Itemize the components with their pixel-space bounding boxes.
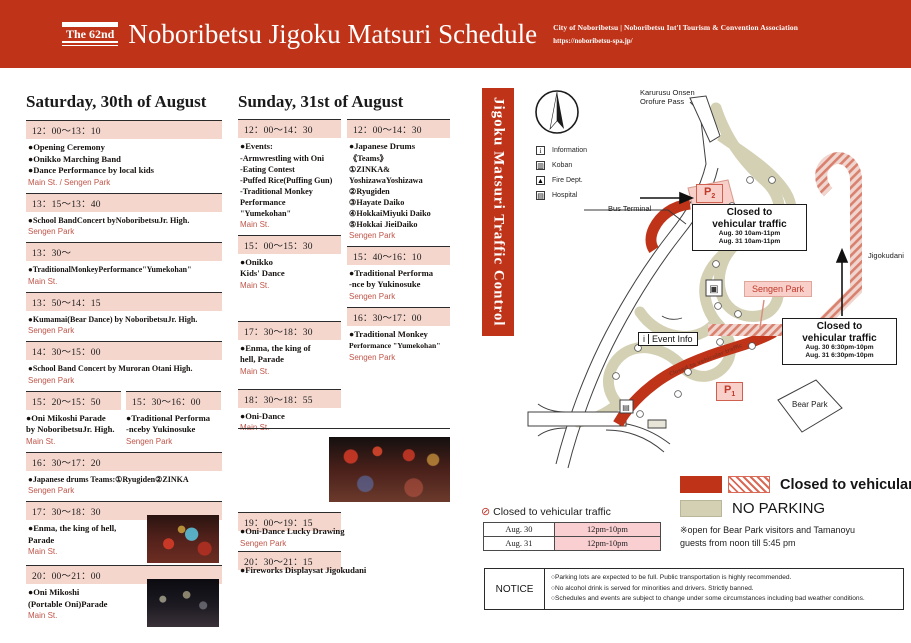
event-line: hell, Parade: [240, 354, 339, 366]
venue-label: Main St.: [28, 611, 142, 620]
event-line: ●Enma, the king of: [240, 343, 339, 355]
schedule-block: 18：30〜18：55 ●Oni-Dance Main St.: [238, 389, 341, 433]
venue-label: Main St.: [240, 367, 339, 376]
venue-label: Main St. / Sengen Park: [28, 178, 220, 187]
time-label: 15：00〜15：30: [238, 235, 341, 254]
schedule-block-body: ●Oni-Dance Lucky Drawing Sengen Park: [238, 526, 368, 548]
event-line: ①ZINKA&: [349, 164, 448, 175]
swatch-closed-hatched: [728, 476, 770, 493]
venue-label: Sengen Park: [238, 539, 368, 548]
event-line: -Armwrestling with Oni: [240, 153, 339, 164]
event-info-label: Event Info: [652, 334, 693, 344]
time-label: 12：00〜14：30: [347, 119, 450, 138]
table-row: Aug. 30 12pm-10pm: [484, 523, 661, 537]
time-label: 16：30〜17：20: [26, 452, 222, 471]
information-label: Information: [552, 147, 587, 154]
schedule-block: 13：50〜14：15 ●Kumamai(Bear Dance) by Nobo…: [26, 292, 222, 336]
information-icon: i: [536, 146, 545, 155]
notice-line: ○No alcohol drink is served for minoriti…: [551, 584, 865, 595]
saturday-title: Saturday, 30th of August: [26, 92, 222, 112]
time-label: 12：00〜14：30: [238, 119, 341, 138]
event-line: Parade: [28, 535, 142, 547]
event-photo-mikoshi: [147, 579, 219, 627]
closed-date: Aug. 31: [484, 537, 555, 551]
time-label: 16：30〜17：00: [347, 307, 450, 326]
time-label: 13：50〜14：15: [26, 292, 222, 311]
notice-line: ○Schedules and events are subject to cha…: [551, 594, 865, 605]
event-line: ●Oni-Dance Lucky Drawing: [238, 526, 368, 538]
schedule-block: 16：30〜17：20 ●Japanese drums Teams:①Ryugi…: [26, 452, 222, 496]
event-line: 《Teams》: [349, 153, 448, 164]
schedule-block: 12：00〜14：30 ●Japanese Drums 《Teams》 ①ZIN…: [347, 119, 450, 240]
koban-label: Koban: [552, 162, 572, 169]
closed-schedule-table: Aug. 30 12pm-10pm Aug. 31 12pm-10pm: [483, 522, 661, 551]
sunday-right-subcolumn: 12：00〜14：30 ●Japanese Drums 《Teams》 ①ZIN…: [347, 119, 450, 438]
event-line: ●Oni Mikoshi: [28, 587, 142, 599]
notice-list: ○Parking lots are expected to be full. P…: [545, 569, 871, 609]
venue-label: Main St.: [28, 277, 220, 286]
time-label: 14：30〜15：00: [26, 341, 222, 360]
label-sengen-park: Sengen Park: [744, 281, 812, 297]
event-line: ●Dance Performance by local kids: [28, 165, 220, 177]
parking-p2-marker[interactable]: P2: [696, 184, 723, 203]
event-line: (Portable Oni)Parade: [28, 599, 142, 611]
time-label: 18：30〜18：55: [238, 389, 341, 408]
event-line: ③Hayate Daiko: [349, 197, 448, 208]
swatch-closed-solid: [680, 476, 722, 493]
time-label: 15：30〜16：00: [126, 391, 221, 410]
time-label: 15：40〜16：10: [347, 246, 450, 265]
label-bear-park: Bear Park: [792, 400, 828, 409]
notice-line: ○Parking lots are expected to be full. P…: [551, 573, 865, 584]
schedule-block: 14：30〜15：00 ●School Band Concert by Muro…: [26, 341, 222, 385]
event-line: ●Kumamai(Bear Dance) by NoboribetsuJr. H…: [28, 314, 220, 326]
venue-label: Sengen Park: [126, 437, 221, 446]
venue-label: Sengen Park: [349, 353, 448, 362]
callout-row1: Aug. 30 10am-11pm: [698, 230, 801, 238]
callout-closed-10am: Closed to vehicular traffic Aug. 30 10am…: [692, 204, 807, 251]
legend-row-closed: Closed to vehicular traffic: [680, 476, 911, 493]
closed-date: Aug. 30: [484, 523, 555, 537]
swatch-no-parking: [680, 500, 722, 517]
schedule-block: 15：00〜15：30 ●Onikko Kids' Dance Main St.: [238, 235, 341, 290]
page-title: Noboribetsu Jigoku Matsuri Schedule: [128, 19, 537, 50]
label-karurusu-onsen: Karurusu Onsen: [640, 88, 695, 97]
label-jigokudani: Jigokudani: [868, 251, 904, 260]
event-line: ●Onikko Marching Band: [28, 154, 220, 166]
time-label: 12：00〜13：10: [26, 120, 222, 139]
parking-p1-marker[interactable]: P1: [716, 382, 743, 401]
schedule-block: 17：30〜18：30 ●Enma, the king of hell, Par…: [26, 501, 222, 556]
page-header: The 62nd Noboribetsu Jigoku Matsuri Sche…: [0, 0, 911, 68]
hospital-icon: ▤: [536, 191, 545, 200]
label-orofure-pass: Orofure Pass: [640, 97, 684, 106]
table-row: Aug. 31 12pm-10pm: [484, 537, 661, 551]
event-line: ●Fireworks Displaysat Jigokudani: [238, 565, 378, 577]
sunday-column: Sunday, 31st of August 12：00〜14：30 ●Even…: [238, 92, 450, 438]
callout-row2: Aug. 31 6:30pm-10pm: [788, 352, 891, 360]
venue-label: Sengen Park: [349, 231, 448, 240]
callout-line1: Closed to: [698, 207, 801, 219]
organizer-url[interactable]: https://noboribetsu-spa.jp/: [553, 37, 798, 45]
event-line: Kids' Dance: [240, 268, 339, 280]
event-line: ●School BandConcert byNoboribetsuJr. Hig…: [28, 215, 220, 227]
time-label: 17：30〜18：30: [238, 321, 341, 340]
closed-table-heading: ⊘ Closed to vehicular traffic: [481, 505, 611, 518]
info-icon: i: [643, 334, 649, 344]
schedule-block: 12：00〜14：30 ●Events: -Armwrestling with …: [238, 119, 341, 229]
event-line: ●Traditional Performa: [349, 268, 448, 280]
schedule-block: 16：30〜17：00 ●Traditional Monkey Performa…: [347, 307, 450, 362]
callout-row1: Aug. 30 6:30pm-10pm: [788, 344, 891, 352]
venue-label: Main St.: [240, 281, 339, 290]
event-line: ⑤Hokkai JieiDaiko: [349, 219, 448, 230]
label-bus-terminal: Bus Terminal: [608, 204, 651, 213]
edition-badge: The 62nd: [62, 25, 118, 43]
sunday-title: Sunday, 31st of August: [238, 92, 450, 112]
closed-time: 12pm-10pm: [554, 523, 660, 537]
event-photo-street: [329, 437, 450, 502]
event-line: YoshizawaYoshizawa: [349, 175, 448, 186]
event-line: Performance "Yumekohan": [349, 340, 448, 352]
venue-label: Main St.: [240, 220, 339, 229]
event-line: ●Events:: [240, 141, 339, 153]
event-line: ●Onikko: [240, 257, 339, 269]
venue-label: Sengen Park: [349, 292, 448, 301]
event-line: ●TraditionalMonkeyPerformance"Yumekohan": [28, 264, 220, 276]
callout-line2: vehicular traffic: [698, 219, 801, 231]
map-legend: Closed to vehicular traffic NO PARKING ※…: [680, 476, 911, 550]
svg-text:▣: ▣: [709, 284, 718, 295]
event-line: ②Ryugiden: [349, 186, 448, 197]
traffic-control-title: Jigoku Matsuri Traffic Control: [482, 88, 514, 336]
legend-no-parking-label: NO PARKING: [732, 500, 825, 517]
time-label: 15：20〜15：50: [26, 391, 121, 410]
time-label: 13：15〜13：40: [26, 193, 222, 212]
event-line: ④HokkaiMiyuki Daiko: [349, 208, 448, 219]
section-divider: [238, 428, 450, 429]
legend-note: ※open for Bear Park visitors and Tamanoy…: [680, 524, 911, 550]
legend-note-line1: ※open for Bear Park visitors and Tamanoy…: [680, 524, 911, 537]
event-line: -Eating Contest: [240, 164, 339, 175]
callout-row2: Aug. 31 10am-11pm: [698, 238, 801, 246]
event-line: -nceby Yukinosuke: [126, 424, 221, 436]
notice-box: NOTICE ○Parking lots are expected to be …: [484, 568, 904, 610]
event-line: -Traditional Monkey: [240, 186, 339, 197]
compass-icon: [534, 89, 580, 135]
event-line: ●Traditional Performa: [126, 413, 221, 425]
schedule-block-split: 15：20〜15：50 15：30〜16：00 ●Oni Mikoshi Par…: [26, 391, 222, 446]
venue-label: Main St.: [28, 547, 142, 556]
event-line: Performance: [240, 197, 339, 208]
schedule-block: 13：15〜13：40 ●School BandConcert byNobori…: [26, 193, 222, 237]
venue-label: Sengen Park: [28, 326, 220, 335]
saturday-column: Saturday, 30th of August 12：00〜13：10 ●Op…: [26, 92, 222, 626]
legend-row-no-parking: NO PARKING: [680, 500, 911, 517]
event-line: ●Japanese Drums: [349, 141, 448, 153]
p2-index: 2: [711, 193, 715, 200]
event-line: ●Enma, the king of hell,: [28, 523, 142, 535]
schedule-block: 15：40〜16：10 ●Traditional Performa -nce b…: [347, 246, 450, 301]
event-line: ●Traditional Monkey: [349, 329, 448, 341]
organizer-names: City of Noboribetsu | Noboribetsu Int'l …: [553, 23, 798, 32]
event-line: -Puffed Rice(Puffing Gun): [240, 175, 339, 186]
event-line: ●School Band Concert by Muroran Otani Hi…: [28, 363, 220, 375]
hospital-label: Hospital: [552, 192, 577, 199]
event-line: ●Opening Ceremony: [28, 142, 220, 154]
legend-note-line2: guests from noon till 5:45 pm: [680, 537, 911, 550]
event-line: by NoboribetsuJr. High.: [26, 424, 121, 436]
event-line: ●Oni Mikoshi Parade: [26, 413, 121, 425]
notice-label: NOTICE: [485, 569, 545, 609]
prohibition-icon: ⊘: [481, 506, 490, 518]
svg-text:▤: ▤: [622, 403, 630, 412]
schedule-block: 17：30〜18：30 ●Enma, the king of hell, Par…: [238, 321, 341, 376]
closed-heading-text: Closed to vehicular traffic: [493, 506, 611, 518]
legend-closed-label: Closed to vehicular traffic: [780, 477, 911, 493]
fire-dept-label: Fire Dept.: [552, 177, 583, 184]
traffic-map[interactable]: ▣ ▤ Closed to vehicular traffic i Inform…: [520, 84, 911, 474]
schedule-block: 12：00〜13：10 ●Opening Ceremony ●Onikko Ma…: [26, 120, 222, 187]
venue-label: Sengen Park: [28, 486, 220, 495]
closed-time: 12pm-10pm: [554, 537, 660, 551]
time-label: 13：30〜: [26, 242, 222, 261]
venue-label: Sengen Park: [28, 227, 220, 236]
map-svg: ▣ ▤ Closed to vehicular traffic: [520, 84, 911, 474]
fire-dept-icon: ▲: [536, 176, 545, 185]
event-line: ●Japanese drums Teams:①Ryugiden②ZINKA: [28, 474, 220, 486]
schedule-block: 20：00〜21：00 ●Oni Mikoshi (Portable Oni)P…: [26, 565, 222, 620]
callout-line2: vehicular traffic: [788, 333, 891, 345]
koban-icon: ▥: [536, 161, 545, 170]
organizer-block: City of Noboribetsu | Noboribetsu Int'l …: [553, 23, 798, 45]
schedule-block: 13：30〜 ●TraditionalMonkeyPerformance"Yum…: [26, 242, 222, 286]
venue-label: Main St.: [26, 437, 121, 446]
p1-index: 1: [731, 391, 735, 398]
event-line: -nce by Yukinosuke: [349, 279, 448, 291]
callout-line1: Closed to: [788, 321, 891, 333]
event-photo-enma: [147, 515, 219, 563]
event-line: "Yumekohan": [240, 208, 339, 219]
callout-closed-630pm: Closed to vehicular traffic Aug. 30 6:30…: [782, 318, 897, 365]
sunday-left-subcolumn: 12：00〜14：30 ●Events: -Armwrestling with …: [238, 119, 341, 438]
event-line: ●Oni-Dance: [240, 411, 339, 423]
event-info-marker[interactable]: i Event Info: [638, 332, 698, 346]
schedule-block-body: ●Fireworks Displaysat Jigokudani: [238, 565, 378, 577]
venue-label: Sengen Park: [28, 376, 220, 385]
